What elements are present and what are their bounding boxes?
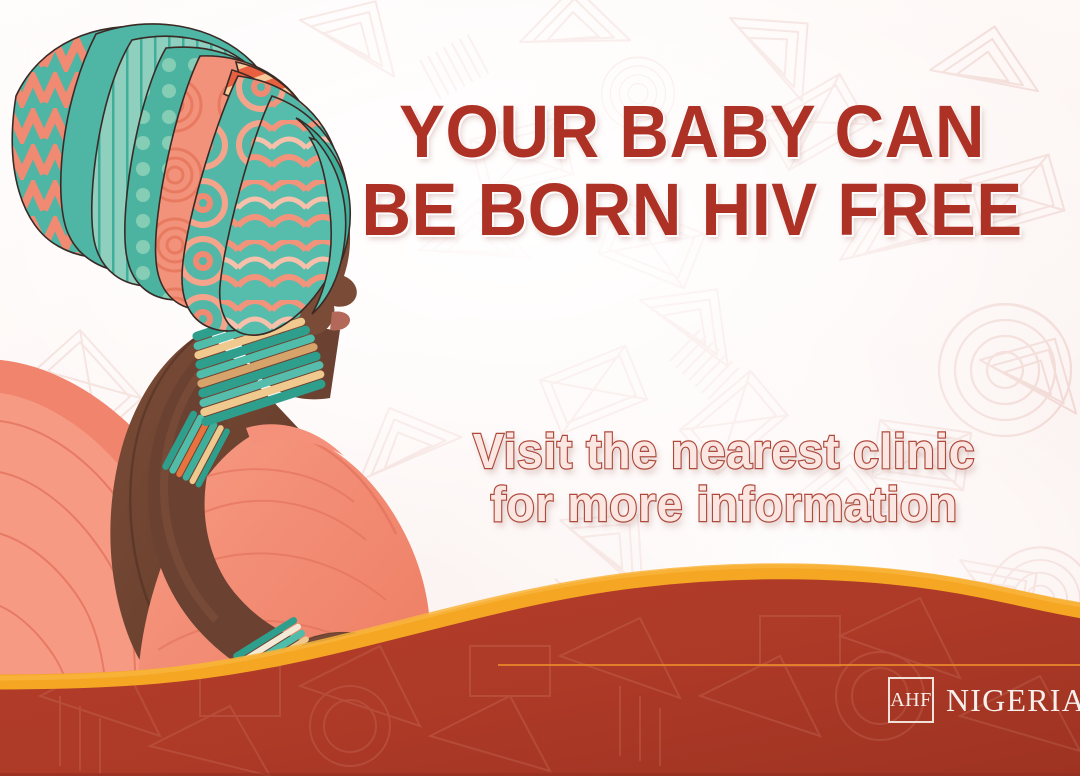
band-divider-rule xyxy=(498,664,1080,666)
ahf-logo-mark: AHF xyxy=(888,677,934,723)
poster-canvas: YOUR BABY CAN BE BORN HIV FREE Visit the… xyxy=(0,0,1080,776)
subtitle-line-2: for more information xyxy=(416,479,1032,532)
headline: YOUR BABY CAN BE BORN HIV FREE xyxy=(336,96,1048,246)
subtitle: Visit the nearest clinic for more inform… xyxy=(400,426,1048,532)
headline-line-2: BE BORN HIV FREE xyxy=(361,174,1023,246)
head-wrap xyxy=(12,24,350,335)
subtitle-line-1: Visit the nearest clinic xyxy=(416,426,1032,479)
logo-country-name: NIGERIA xyxy=(946,684,1080,716)
ahf-logo-text: AHF xyxy=(890,689,932,712)
ahf-nigeria-logo[interactable]: AHF NIGERIA xyxy=(888,676,1080,724)
headline-line-1: YOUR BABY CAN xyxy=(361,96,1023,168)
bottom-wave-band xyxy=(0,546,1080,776)
